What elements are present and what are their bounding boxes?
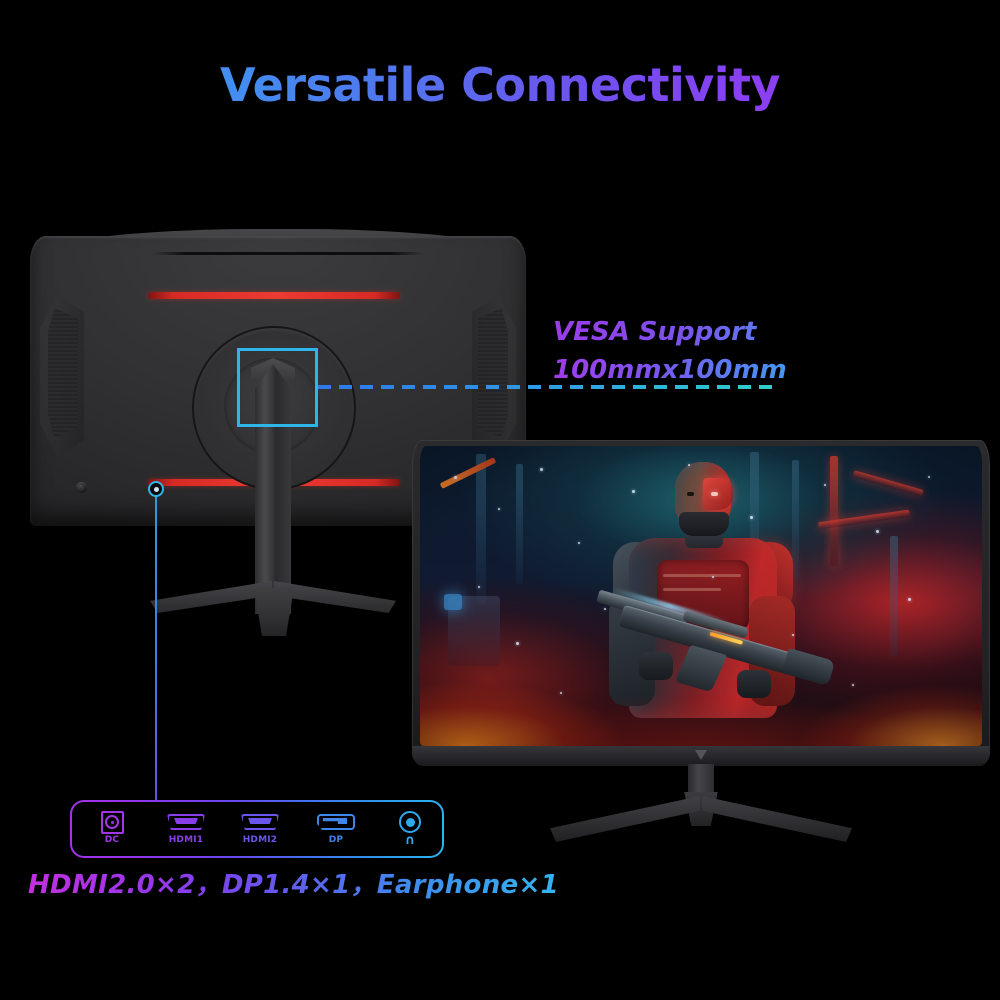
page-title: Versatile Connectivity	[0, 58, 1000, 112]
port-label-dp: DP	[304, 835, 368, 846]
port-panel-inner: DC HDMI1 HDMI2 DP	[72, 802, 442, 856]
rear-screw-hole	[76, 482, 87, 493]
port-hdmi1: HDMI1	[154, 810, 218, 852]
screen-vignette	[420, 446, 982, 746]
port-callout-line	[155, 492, 157, 802]
front-stand-leg-left	[550, 796, 700, 842]
port-dp: DP	[304, 810, 368, 852]
hdmi-port-icon	[228, 810, 292, 834]
port-label-hdmi1: HDMI1	[154, 835, 218, 846]
vesa-highlight-box	[237, 348, 318, 427]
monitor-front-view	[412, 440, 990, 860]
hdmi-port-icon	[154, 810, 218, 834]
displayport-icon	[304, 810, 368, 834]
vesa-callout-text: VESA Support 100mmx100mm	[553, 313, 873, 389]
port-label-hdmi2: HDMI2	[228, 835, 292, 846]
monitor-screen	[420, 446, 982, 746]
rear-vent-right	[478, 308, 508, 438]
port-earphone: ∩	[378, 810, 442, 852]
port-callout-marker	[148, 481, 164, 497]
port-hdmi2: HDMI2	[228, 810, 292, 852]
vesa-size-label: 100mmx100mm	[553, 351, 873, 389]
connectivity-summary-caption: HDMI2.0×2，DP1.4×1，Earphone×1	[28, 864, 559, 901]
front-stand-leg-right	[702, 796, 852, 842]
rear-stand-leg-left	[150, 581, 272, 613]
port-label-dc: DC	[80, 835, 144, 846]
port-dc: DC	[80, 810, 144, 852]
port-panel: DC HDMI1 HDMI2 DP	[70, 800, 444, 858]
headphone-icon: ∩	[378, 835, 442, 846]
audio-jack-icon	[378, 810, 442, 834]
rear-vent-slot	[152, 252, 424, 255]
front-bezel	[412, 440, 990, 765]
dc-power-icon	[80, 810, 144, 834]
rear-accent-stripe-top	[148, 292, 400, 299]
product-feature-image: Versatile Connectivity VESA Support 100m…	[0, 0, 1000, 1000]
rear-vent-left	[48, 308, 78, 438]
vesa-support-label: VESA Support	[553, 313, 873, 351]
